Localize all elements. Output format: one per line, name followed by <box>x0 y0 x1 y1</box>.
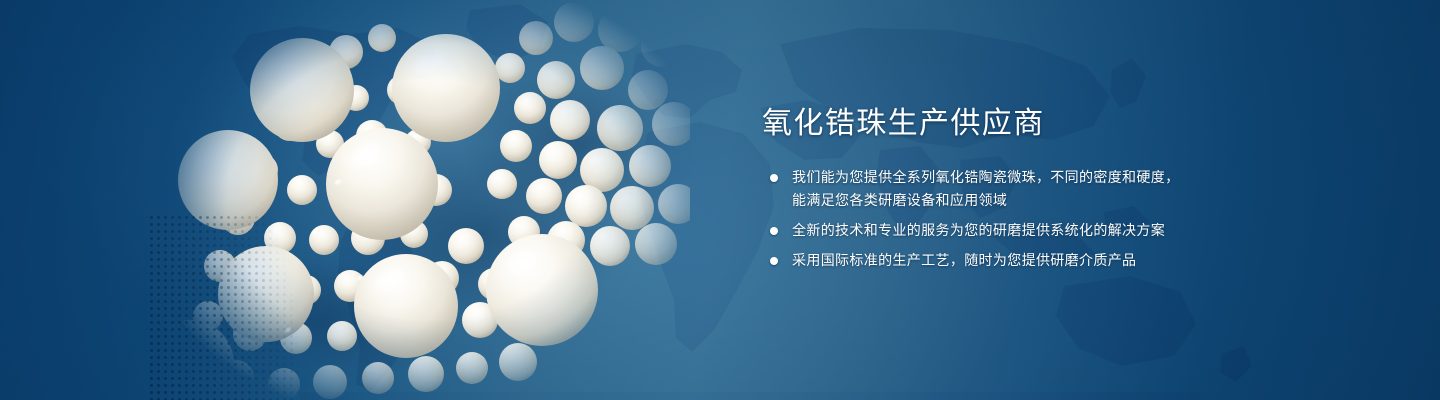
banner-copy: 氧化锆珠生产供应商 我们能为您提供全系列氧化锆陶瓷微珠，不同的密度和硬度， 能满… <box>762 104 1382 272</box>
feature-list: 我们能为您提供全系列氧化锆陶瓷微珠，不同的密度和硬度， 能满足您各类研磨设备和应… <box>762 166 1382 272</box>
page-title: 氧化锆珠生产供应商 <box>762 104 1382 144</box>
list-item: 采用国际标准的生产工艺，随时为您提供研磨介质产品 <box>762 249 1382 272</box>
list-item: 全新的技术和专业的服务为您的研磨提供系统化的解决方案 <box>762 219 1382 242</box>
list-item-line: 能满足您各类研磨设备和应用领域 <box>792 189 1382 212</box>
bullet-dot-icon <box>770 227 778 235</box>
list-item-line: 我们能为您提供全系列氧化锆陶瓷微珠，不同的密度和硬度， <box>792 166 1382 189</box>
list-item-line: 采用国际标准的生产工艺，随时为您提供研磨介质产品 <box>792 249 1382 272</box>
list-item: 我们能为您提供全系列氧化锆陶瓷微珠，不同的密度和硬度， 能满足您各类研磨设备和应… <box>762 166 1382 212</box>
hero-banner: 氧化锆珠生产供应商 我们能为您提供全系列氧化锆陶瓷微珠，不同的密度和硬度， 能满… <box>0 0 1440 400</box>
list-item-line: 全新的技术和专业的服务为您的研磨提供系统化的解决方案 <box>792 219 1382 242</box>
zirconia-beads-image <box>150 0 690 400</box>
bullet-dot-icon <box>770 174 778 182</box>
bullet-dot-icon <box>770 257 778 265</box>
